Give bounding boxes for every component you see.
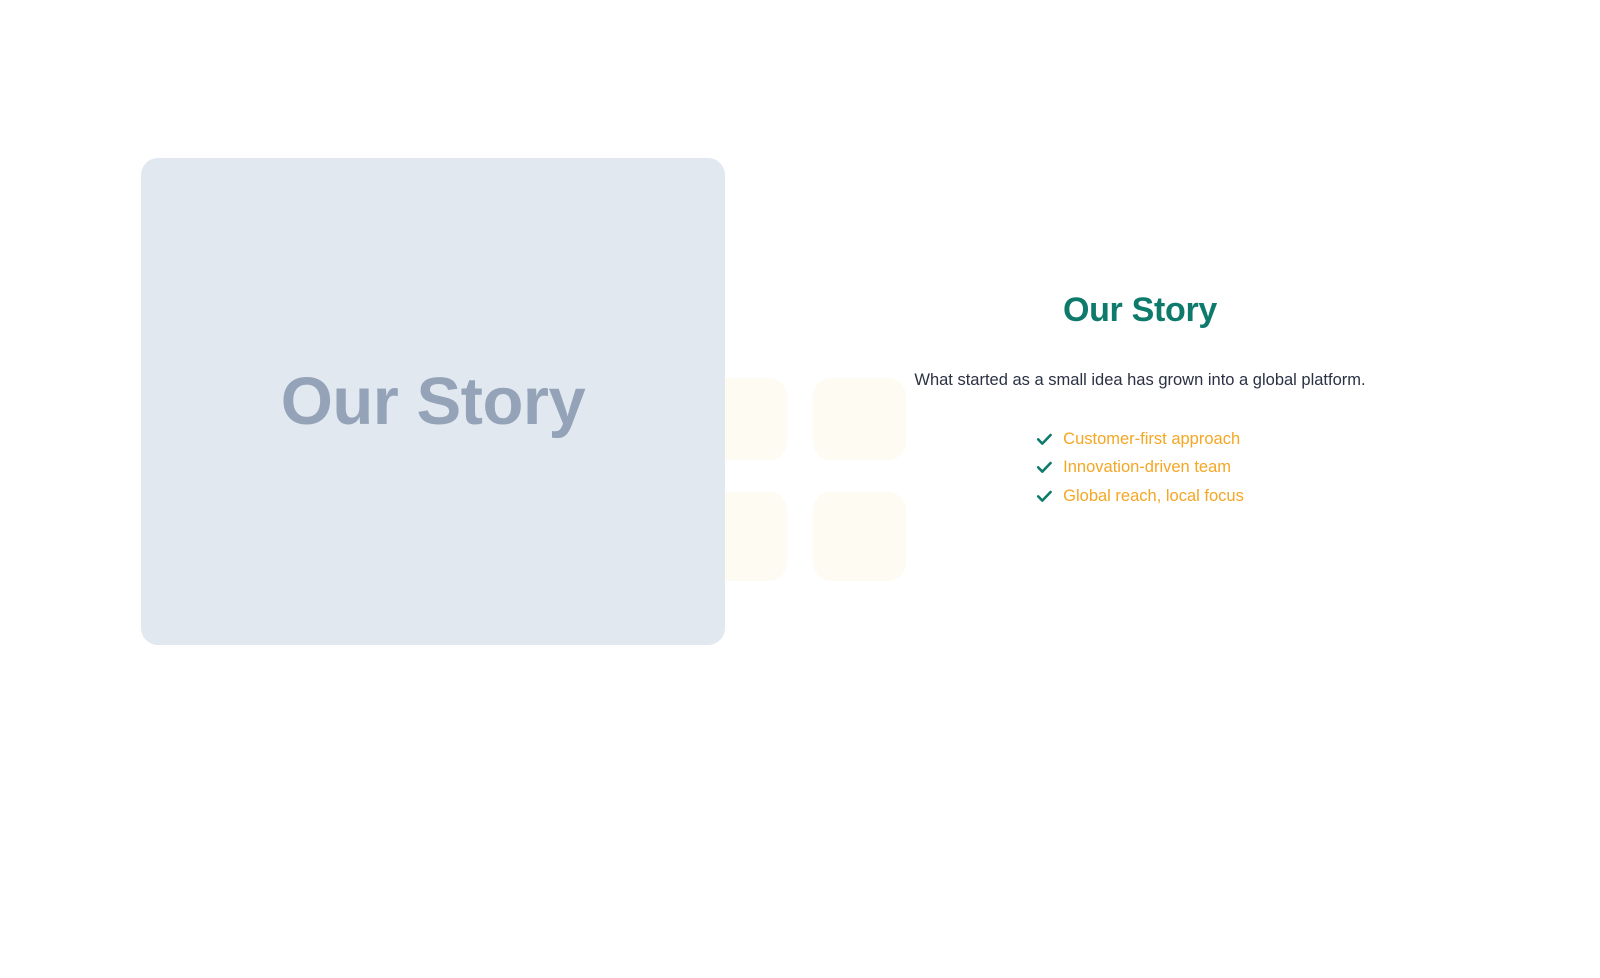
check-icon [1036,459,1053,476]
page-canvas: Our Story Our Story What started as a sm… [0,0,1600,978]
media-placeholder-card: Our Story [141,158,725,645]
media-placeholder-label: Our Story [281,368,586,435]
check-icon [1036,488,1053,505]
check-icon [1036,431,1053,448]
feature-label: Global reach, local focus [1063,486,1244,507]
intro-paragraph: What started as a small idea has grown i… [900,369,1380,393]
feature-label: Innovation-driven team [1063,457,1231,478]
decorative-grid [694,378,906,582]
deco-tile-4-icon [813,492,906,581]
page-title: Our Story [900,290,1380,331]
feature-list: Customer-first approach Innovation-drive… [1036,429,1244,507]
list-item: Customer-first approach [1036,429,1244,450]
deco-tile-2-icon [813,378,906,460]
list-item: Innovation-driven team [1036,457,1244,478]
list-item: Global reach, local focus [1036,486,1244,507]
content-column: Our Story What started as a small idea h… [900,290,1380,510]
feature-label: Customer-first approach [1063,429,1240,450]
